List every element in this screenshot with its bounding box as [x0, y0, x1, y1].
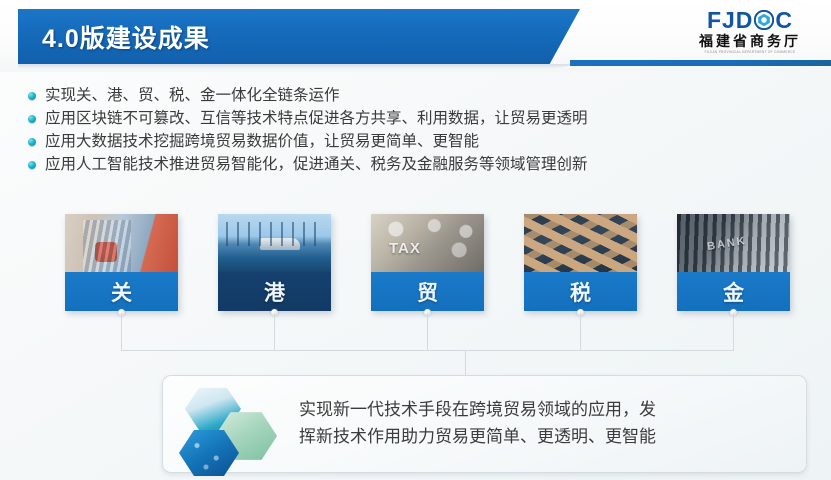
pillar-card-finance: BANK 金	[677, 214, 790, 311]
bullet-text: 应用大数据技术挖掘跨境贸易数据价值，让贸易更简单、更智能	[45, 132, 479, 152]
title-bar-shadow	[18, 64, 580, 69]
bullet-dot-icon	[28, 115, 36, 123]
connector-vertical	[580, 313, 581, 350]
list-item: 应用人工智能技术推进贸易智能化，促进通关、税务及金融服务等领域管理创新	[28, 155, 818, 176]
summary-box: 实现新一代技术手段在跨境贸易领域的应用，发 挥新技术作用助力贸易更简单、更透明、…	[162, 375, 807, 473]
list-item: 实现关、港、贸、税、金一体化全链条运作	[28, 86, 818, 107]
list-item: 应用大数据技术挖掘跨境贸易数据价值，让贸易更简单、更智能	[28, 132, 818, 153]
connector-vertical	[274, 313, 275, 350]
slide-header: 4.0版建设成果 FJD C 福建省商务厅 FUJIAN PROVINCIAL …	[0, 0, 831, 76]
header-accent-strip	[570, 60, 831, 66]
shipping-containers-photo	[65, 214, 178, 272]
bullet-dot-icon	[28, 161, 36, 169]
connector-vertical	[121, 313, 122, 350]
slide-canvas: 4.0版建设成果 FJD C 福建省商务厅 FUJIAN PROVINCIAL …	[0, 0, 831, 480]
bank-building-photo: BANK	[677, 214, 790, 272]
bullet-text: 应用人工智能技术推进贸易智能化，促进通关、税务及金融服务等领域管理创新	[45, 155, 588, 175]
bullet-list: 实现关、港、贸、税、金一体化全链条运作 应用区块链不可篡改、互信等技术特点促进各…	[28, 86, 818, 178]
pillar-card-row: 关 港 TAX 贸 税 BANK 金	[0, 214, 831, 314]
tax-network-photo: TAX	[371, 214, 484, 272]
summary-line-2: 挥新技术作用助力贸易更简单、更透明、更智能	[299, 423, 789, 450]
summary-text: 实现新一代技术手段在跨境贸易领域的应用，发 挥新技术作用助力贸易更简单、更透明、…	[299, 396, 789, 450]
parcel-packages-photo	[524, 214, 637, 272]
pillar-card-port: 港	[218, 214, 331, 311]
page-title: 4.0版建设成果	[42, 19, 210, 55]
bullet-dot-icon	[28, 138, 36, 146]
logo-chinese-name: 福建省商务厅	[685, 33, 815, 50]
hexagon-cluster-icon	[175, 382, 293, 468]
tax-overlay-word: TAX	[389, 240, 421, 257]
bullet-dot-icon	[28, 92, 36, 100]
connector-drop	[465, 350, 466, 375]
logo-mark-right: C	[775, 8, 793, 32]
logo-mark-left: FJD	[707, 8, 753, 32]
connector-lines	[0, 305, 831, 385]
bullet-text: 应用区块链不可篡改、互信等技术特点促进各方共享、利用数据，让贸易更透明	[45, 109, 588, 129]
connector-vertical	[427, 313, 428, 350]
bullet-text: 实现关、港、贸、税、金一体化全链条运作	[45, 86, 340, 106]
organization-logo: FJD C 福建省商务厅 FUJIAN PROVINCIAL DEPARTMEN…	[685, 8, 815, 60]
connector-vertical	[733, 313, 734, 350]
pillar-card-trade: TAX 贸	[371, 214, 484, 311]
fjdoc-o-icon	[754, 10, 774, 30]
pillar-card-customs: 关	[65, 214, 178, 311]
logo-english-name: FUJIAN PROVINCIAL DEPARTMENT OF COMMERCE	[685, 50, 815, 56]
pillar-card-tax: 税	[524, 214, 637, 311]
connector-horizontal	[121, 350, 734, 351]
summary-line-1: 实现新一代技术手段在跨境贸易领域的应用，发	[299, 396, 789, 423]
logo-wordmark: FJD C	[685, 8, 815, 32]
list-item: 应用区块链不可篡改、互信等技术特点促进各方共享、利用数据，让贸易更透明	[28, 109, 818, 130]
port-crane-harbor-photo	[218, 214, 331, 272]
